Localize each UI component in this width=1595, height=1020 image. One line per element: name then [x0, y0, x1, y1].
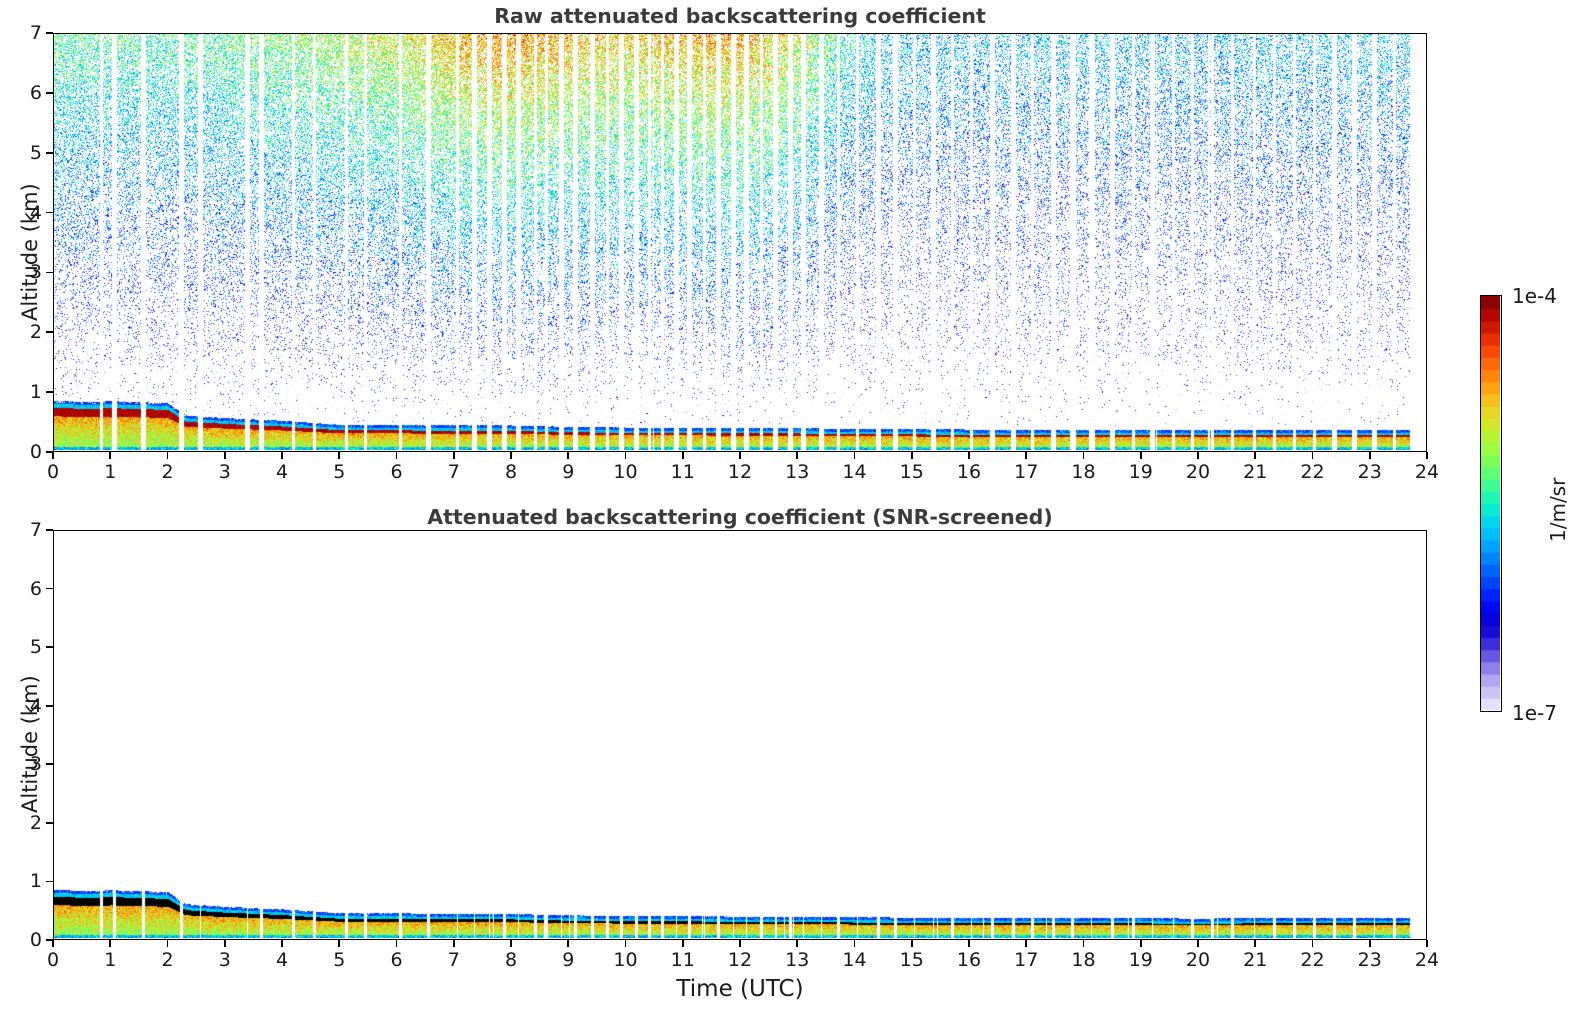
x-tick-mark: [1083, 940, 1085, 947]
x-tick-label: 9: [562, 949, 574, 971]
y-tick-mark: [46, 92, 53, 94]
x-tick-label: 14: [842, 949, 866, 971]
x-tick-mark: [338, 940, 340, 947]
x-tick-label: 13: [785, 461, 809, 483]
x-tick-mark: [453, 452, 455, 459]
x-tick-mark: [338, 452, 340, 459]
x-tick-label: 15: [900, 949, 924, 971]
x-tick-mark: [682, 452, 684, 459]
x-tick-label: 4: [276, 949, 288, 971]
x-tick-label: 17: [1014, 949, 1038, 971]
y-tick-mark: [46, 331, 53, 333]
x-tick-mark: [224, 452, 226, 459]
y-tick-mark: [46, 451, 53, 453]
y-tick-label: 6: [7, 578, 42, 600]
x-tick-mark: [567, 452, 569, 459]
x-tick-mark: [1369, 940, 1371, 947]
lidar-figure: Raw attenuated backscattering coefficien…: [0, 0, 1595, 1020]
x-tick-mark: [1312, 452, 1314, 459]
x-tick-mark: [1140, 452, 1142, 459]
y-tick-mark: [46, 646, 53, 648]
x-tick-mark: [224, 940, 226, 947]
raw-backscatter-plot[interactable]: [53, 33, 1427, 452]
y-tick-label: 7: [7, 519, 42, 541]
x-tick-label: 9: [562, 461, 574, 483]
x-tick-mark: [510, 940, 512, 947]
x-tick-label: 2: [161, 949, 173, 971]
y-tick-mark: [46, 391, 53, 393]
x-tick-mark: [625, 452, 627, 459]
x-tick-label: 15: [900, 461, 924, 483]
x-tick-mark: [739, 452, 741, 459]
x-tick-mark: [1197, 940, 1199, 947]
x-tick-label: 23: [1358, 949, 1382, 971]
colorbar-gradient: [1481, 296, 1500, 710]
x-tick-label: 17: [1014, 461, 1038, 483]
x-tick-mark: [1083, 452, 1085, 459]
y-tick-mark: [46, 152, 53, 154]
y-tick-label: 2: [7, 812, 42, 834]
y-tick-mark: [46, 588, 53, 590]
x-tick-mark: [1197, 452, 1199, 459]
x-tick-mark: [52, 940, 54, 947]
screened-backscatter-heatmap: [54, 531, 1425, 938]
y-tick-label: 2: [7, 321, 42, 343]
x-tick-label: 24: [1415, 461, 1439, 483]
y-tick-mark: [46, 763, 53, 765]
y-tick-mark: [46, 32, 53, 34]
x-tick-label: 21: [1243, 949, 1267, 971]
x-tick-mark: [625, 940, 627, 947]
x-tick-label: 22: [1300, 461, 1324, 483]
x-tick-label: 20: [1186, 461, 1210, 483]
x-tick-mark: [1254, 940, 1256, 947]
x-tick-label: 8: [505, 461, 517, 483]
x-tick-mark: [682, 940, 684, 947]
x-tick-label: 5: [333, 461, 345, 483]
x-tick-label: 10: [613, 461, 637, 483]
colorbar-max-label: 1e-4: [1512, 284, 1557, 308]
x-tick-label: 1: [104, 461, 116, 483]
x-tick-label: 19: [1129, 461, 1153, 483]
x-tick-mark: [109, 452, 111, 459]
x-tick-label: 16: [957, 949, 981, 971]
x-tick-label: 19: [1129, 949, 1153, 971]
raw-y-axis-title: Altitude (km): [18, 183, 42, 321]
x-tick-label: 2: [161, 461, 173, 483]
x-tick-label: 3: [219, 949, 231, 971]
x-tick-mark: [1426, 452, 1428, 459]
x-tick-label: 20: [1186, 949, 1210, 971]
colorbar-min-label: 1e-7: [1512, 701, 1557, 725]
x-tick-label: 12: [728, 461, 752, 483]
y-tick-label: 5: [7, 142, 42, 164]
x-tick-mark: [109, 940, 111, 947]
y-tick-label: 1: [7, 870, 42, 892]
x-tick-label: 21: [1243, 461, 1267, 483]
y-tick-label: 6: [7, 82, 42, 104]
x-tick-mark: [1369, 452, 1371, 459]
y-tick-mark: [46, 705, 53, 707]
colorbar-unit-label: 1/m/sr: [1546, 477, 1570, 541]
x-tick-mark: [796, 452, 798, 459]
x-tick-label: 10: [613, 949, 637, 971]
x-tick-mark: [52, 452, 54, 459]
x-tick-mark: [281, 452, 283, 459]
x-tick-mark: [567, 940, 569, 947]
y-tick-label: 0: [7, 929, 42, 951]
x-tick-label: 5: [333, 949, 345, 971]
panel-title-raw: Raw attenuated backscattering coefficien…: [53, 4, 1427, 28]
x-tick-label: 1: [104, 949, 116, 971]
x-tick-label: 7: [448, 949, 460, 971]
x-tick-mark: [1426, 940, 1428, 947]
x-tick-mark: [854, 940, 856, 947]
x-tick-label: 18: [1071, 949, 1095, 971]
y-tick-mark: [46, 939, 53, 941]
x-tick-label: 16: [957, 461, 981, 483]
x-tick-label: 4: [276, 461, 288, 483]
y-tick-mark: [46, 822, 53, 824]
x-tick-label: 3: [219, 461, 231, 483]
x-tick-mark: [1025, 940, 1027, 947]
x-tick-mark: [167, 452, 169, 459]
raw-backscatter-heatmap: [54, 34, 1425, 450]
x-tick-mark: [396, 940, 398, 947]
x-tick-label: 22: [1300, 949, 1324, 971]
x-tick-mark: [739, 940, 741, 947]
x-tick-label: 18: [1071, 461, 1095, 483]
x-tick-mark: [1025, 452, 1027, 459]
screened-y-axis-title: Altitude (km): [18, 675, 42, 813]
x-tick-mark: [911, 452, 913, 459]
panel-title-screened: Attenuated backscattering coefficient (S…: [53, 505, 1427, 529]
y-tick-mark: [46, 881, 53, 883]
y-tick-label: 0: [7, 441, 42, 463]
y-tick-mark: [46, 272, 53, 274]
y-tick-mark: [46, 212, 53, 214]
x-tick-mark: [1254, 452, 1256, 459]
x-tick-mark: [167, 940, 169, 947]
y-tick-label: 1: [7, 381, 42, 403]
x-tick-mark: [396, 452, 398, 459]
x-tick-label: 6: [390, 949, 402, 971]
x-tick-mark: [453, 940, 455, 947]
y-tick-label: 7: [7, 22, 42, 44]
x-tick-label: 23: [1358, 461, 1382, 483]
x-tick-mark: [968, 452, 970, 459]
x-tick-label: 0: [47, 461, 59, 483]
x-tick-mark: [1312, 940, 1314, 947]
x-tick-mark: [510, 452, 512, 459]
x-tick-label: 8: [505, 949, 517, 971]
x-tick-label: 11: [671, 949, 695, 971]
x-tick-label: 14: [842, 461, 866, 483]
x-tick-mark: [1140, 940, 1142, 947]
y-tick-label: 5: [7, 636, 42, 658]
x-tick-label: 24: [1415, 949, 1439, 971]
x-tick-label: 11: [671, 461, 695, 483]
x-tick-mark: [854, 452, 856, 459]
time-axis-title: Time (UTC): [676, 976, 803, 1002]
y-tick-mark: [46, 529, 53, 531]
x-tick-label: 12: [728, 949, 752, 971]
x-tick-label: 7: [448, 461, 460, 483]
colorbar[interactable]: [1480, 295, 1502, 712]
x-tick-mark: [911, 940, 913, 947]
x-tick-mark: [796, 940, 798, 947]
x-tick-label: 13: [785, 949, 809, 971]
screened-backscatter-plot[interactable]: [53, 530, 1427, 940]
x-tick-label: 0: [47, 949, 59, 971]
x-tick-mark: [968, 940, 970, 947]
x-tick-mark: [281, 940, 283, 947]
x-tick-label: 6: [390, 461, 402, 483]
